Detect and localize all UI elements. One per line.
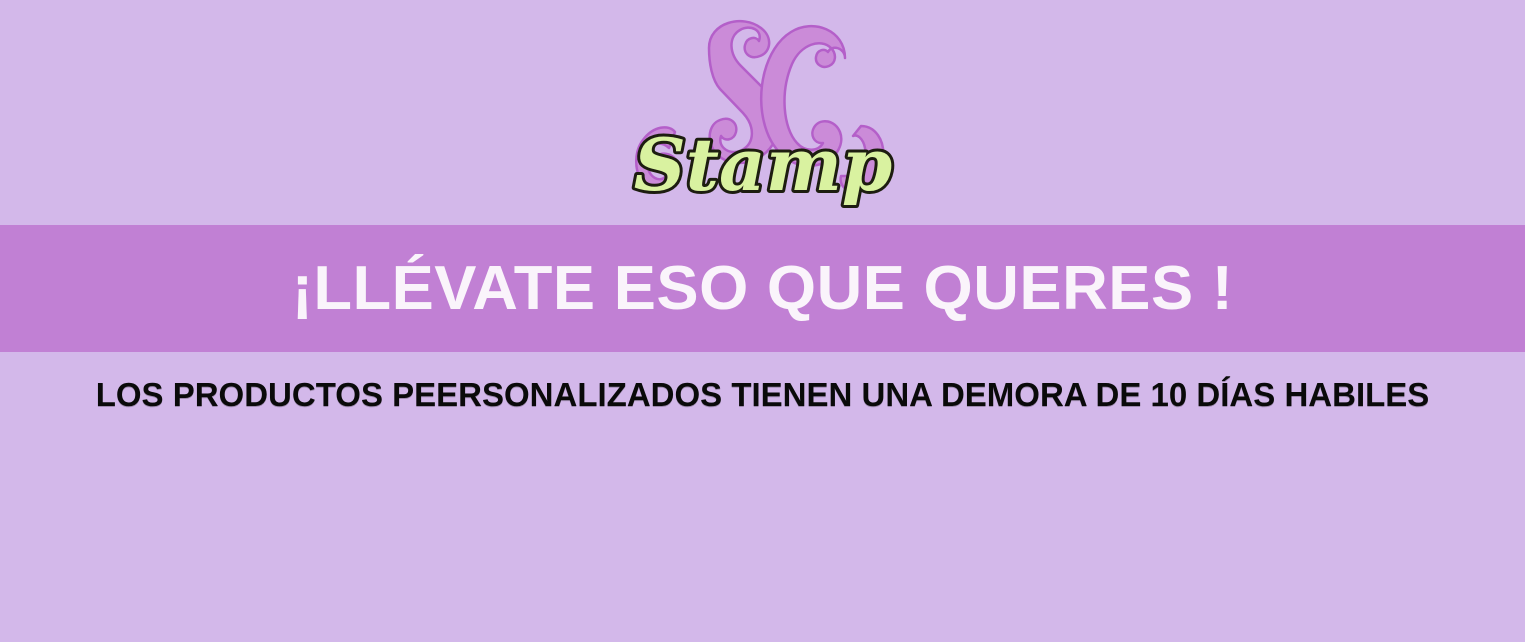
lower-background-area bbox=[0, 452, 1525, 642]
notice-area: LOS PRODUCTOS PEERSONALIZADOS TIENEN UNA… bbox=[0, 352, 1525, 452]
headline-text: ¡LLÉVATE ESO QUE QUERES ! bbox=[292, 258, 1234, 320]
headline-band: ¡LLÉVATE ESO QUE QUERES ! bbox=[0, 225, 1525, 352]
logo-area: Stamp bbox=[0, 0, 1525, 225]
svg-text:Stamp: Stamp bbox=[633, 122, 891, 207]
brand-logo[interactable]: Stamp bbox=[613, 0, 913, 225]
logo-wordmark-stamp: Stamp bbox=[633, 122, 891, 207]
delivery-notice-text: LOS PRODUCTOS PEERSONALIZADOS TIENEN UNA… bbox=[96, 352, 1430, 411]
promo-banner: Stamp ¡LLÉVATE ESO QUE QUERES ! LOS PROD… bbox=[0, 0, 1525, 642]
